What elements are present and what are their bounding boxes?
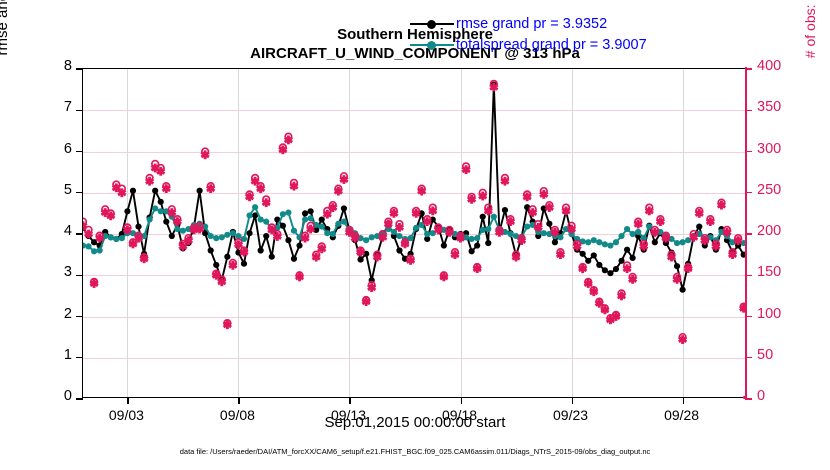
y-tick (76, 110, 83, 111)
y-tick (76, 275, 83, 276)
y2-ticklabel: 0 (757, 388, 803, 404)
y-ticklabel: 3 (32, 264, 72, 280)
plot-area (82, 68, 746, 398)
y-ticklabel: 8 (32, 58, 72, 74)
y-tick (76, 398, 83, 399)
x-tick (683, 397, 684, 404)
right-axis-line (745, 67, 747, 399)
y-tick (76, 357, 83, 358)
y2-ticklabel: 350 (757, 99, 803, 115)
y-ticklabel: 6 (32, 141, 72, 157)
x-tick (461, 397, 462, 404)
legend-item-rmse[interactable]: rmse grand pr = 3.9352 (410, 13, 647, 34)
y-ticklabel: 4 (32, 223, 72, 239)
datafile-caption: data file: /Users/raeder/DAI/ATM_forcXX/… (0, 447, 830, 456)
y-ticklabel: 7 (32, 99, 72, 115)
y-axis-left-label: rmse and totalspread (0, 0, 11, 115)
x-tick (572, 397, 573, 404)
y-tick (76, 68, 83, 69)
legend-swatch-totalspread (410, 38, 454, 52)
legend-swatch-rmse (410, 17, 454, 31)
legend-label-rmse: rmse grand pr = 3.9352 (456, 16, 607, 32)
y2-ticklabel: 150 (757, 264, 803, 280)
y-axis-right-label: # of obs: o=possible; *=assimilated (802, 0, 818, 100)
series-canvas (83, 69, 747, 399)
y2-ticklabel: 250 (757, 182, 803, 198)
y-ticklabel: 0 (32, 388, 72, 404)
y-ticklabel: 1 (32, 347, 72, 363)
y-ticklabel: 5 (32, 182, 72, 198)
series-rmse (83, 82, 747, 293)
legend: rmse grand pr = 3.9352 totalspread grand… (410, 13, 647, 55)
y2-ticklabel: 400 (757, 58, 803, 74)
legend-label-totalspread: totalspread grand pr = 3.9007 (456, 37, 647, 53)
x-axis-label: Sep.01,2015 00:00:00 start (0, 414, 830, 431)
y-tick (76, 233, 83, 234)
x-tick (349, 397, 350, 404)
y-tick (76, 192, 83, 193)
series-obs-assimilated (83, 83, 747, 344)
y-tick (76, 316, 83, 317)
y2-ticklabel: 200 (757, 223, 803, 239)
legend-item-totalspread[interactable]: totalspread grand pr = 3.9007 (410, 34, 647, 55)
y2-ticklabel: 300 (757, 141, 803, 157)
y-tick (76, 151, 83, 152)
y2-ticklabel: 50 (757, 347, 803, 363)
x-tick (238, 397, 239, 404)
y-ticklabel: 2 (32, 306, 72, 322)
chart-page: Southern Hemisphere AIRCRAFT_U_WIND_COMP… (0, 0, 830, 470)
y2-ticklabel: 100 (757, 306, 803, 322)
x-tick (127, 397, 128, 404)
